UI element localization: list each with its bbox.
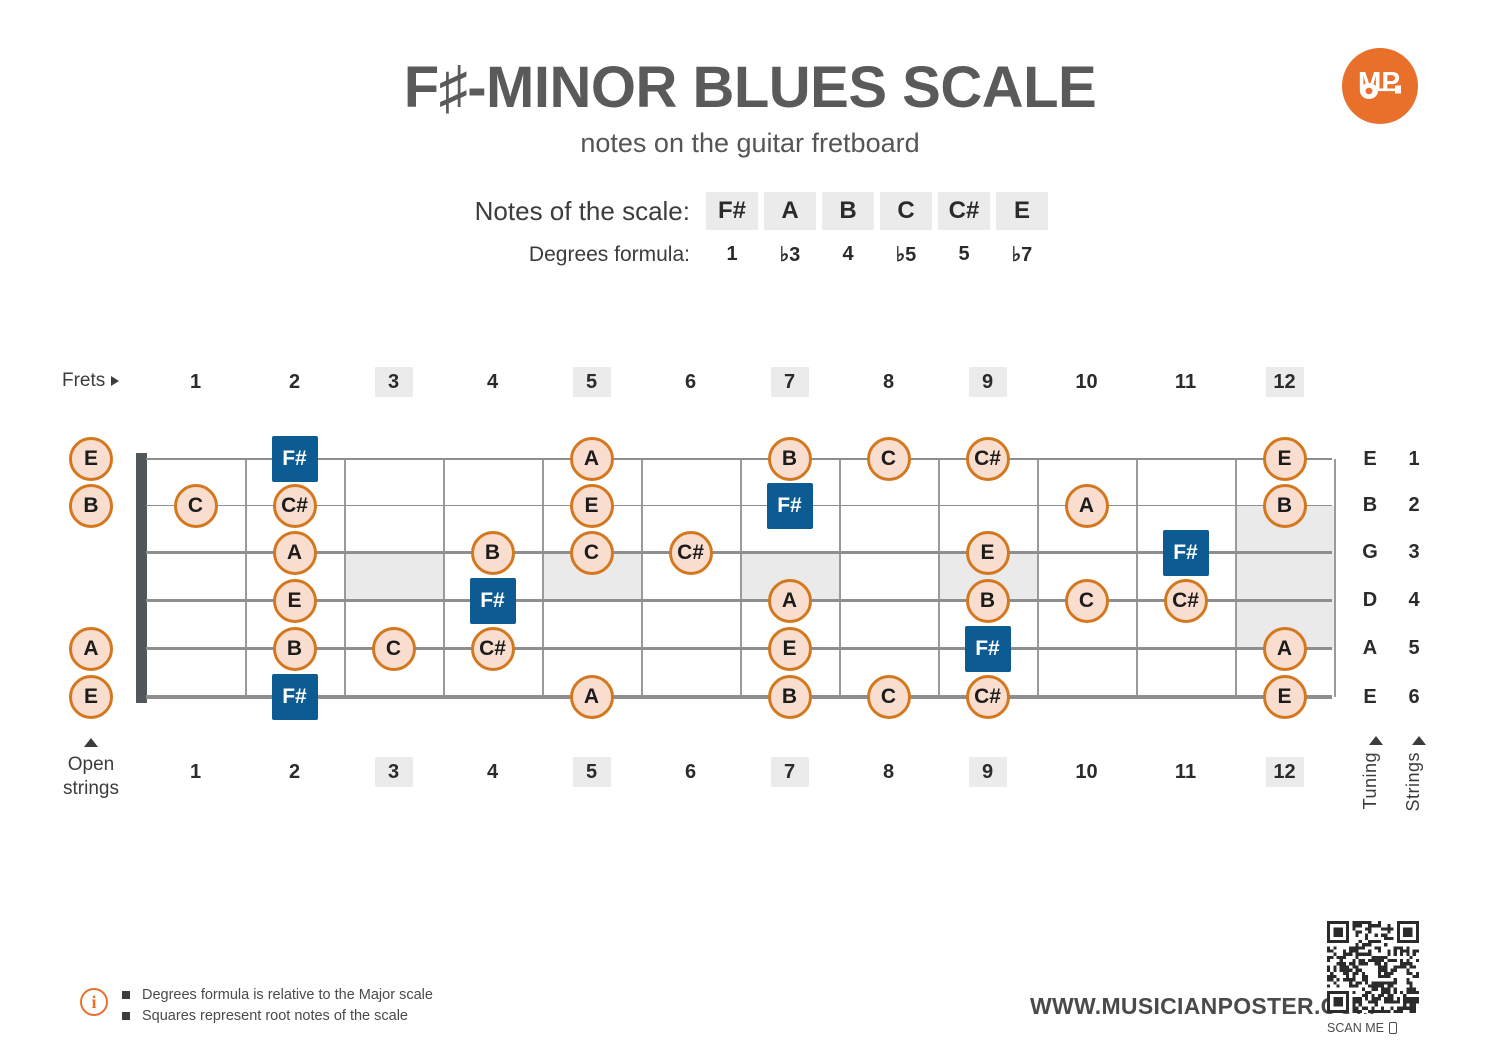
- fret-wire: [938, 459, 940, 697]
- string-line: [146, 505, 1332, 507]
- scale-note-marker[interactable]: A: [768, 579, 812, 623]
- scale-note-marker[interactable]: C#: [273, 484, 317, 528]
- open-string-note[interactable]: E: [69, 675, 113, 719]
- scale-note-marker[interactable]: A: [1065, 484, 1109, 528]
- fret-number: 3: [375, 367, 413, 397]
- root-note-marker[interactable]: F#: [965, 626, 1011, 672]
- scale-note-marker[interactable]: C: [174, 484, 218, 528]
- fret-number: 1: [177, 757, 215, 787]
- scale-note-marker[interactable]: C: [372, 627, 416, 671]
- fret-number: 12: [1266, 367, 1304, 397]
- scale-note-marker[interactable]: A: [570, 437, 614, 481]
- open-strings-caption-line1: Open: [46, 753, 136, 777]
- fret-wire: [1037, 459, 1039, 697]
- website-url: WWW.MUSICIANPOSTER.COM: [1030, 993, 1375, 1020]
- tuning-caption: Tuning: [1360, 752, 1381, 809]
- tuning-label: B: [1350, 491, 1390, 521]
- fret-inlay-marker: [344, 553, 443, 601]
- fret-number: 10: [1068, 367, 1106, 397]
- string-line: [146, 458, 1332, 459]
- fret-number: 7: [771, 367, 809, 397]
- open-string-note[interactable]: A: [69, 627, 113, 671]
- scale-note-marker[interactable]: C: [570, 531, 614, 575]
- scale-note-marker[interactable]: C: [1065, 579, 1109, 623]
- footer-note-1: Degrees formula is relative to the Major…: [122, 987, 433, 1003]
- fret-number: 5: [573, 367, 611, 397]
- tuning-label: D: [1350, 586, 1390, 616]
- scale-note-marker[interactable]: C#: [471, 627, 515, 671]
- scale-note-marker[interactable]: A: [570, 675, 614, 719]
- fret-number: 9: [969, 757, 1007, 787]
- scale-note-marker[interactable]: E: [768, 627, 812, 671]
- frets-label: Frets: [62, 370, 119, 392]
- scale-note-marker[interactable]: C#: [966, 437, 1010, 481]
- open-strings-caption: Open strings: [46, 738, 136, 801]
- bullet-square-icon: [122, 1012, 130, 1020]
- fret-wire: [245, 459, 247, 697]
- qr-code[interactable]: [1327, 921, 1419, 1013]
- fret-wire: [344, 459, 346, 697]
- phone-icon: [1389, 1022, 1397, 1034]
- fret-number: 11: [1167, 757, 1205, 787]
- fret-number: 3: [375, 757, 413, 787]
- root-note-marker[interactable]: F#: [272, 674, 318, 720]
- fret-number: 8: [870, 757, 908, 787]
- scale-note-marker[interactable]: B: [768, 675, 812, 719]
- scale-note-marker[interactable]: E: [1263, 675, 1307, 719]
- tuning-label: G: [1350, 538, 1390, 568]
- fretboard-section: Frets 123456789101112 123456789101112 EB…: [0, 0, 1500, 1061]
- fret-wire: [1334, 459, 1336, 697]
- strings-caption: Strings: [1403, 752, 1424, 812]
- string-line: [146, 647, 1332, 650]
- scale-note-marker[interactable]: C#: [1164, 579, 1208, 623]
- arrow-right-icon: [111, 376, 119, 386]
- tuning-label: E: [1350, 444, 1390, 474]
- root-note-marker[interactable]: F#: [470, 578, 516, 624]
- fret-number: 11: [1167, 367, 1205, 397]
- string-number-label: 4: [1394, 586, 1434, 616]
- fret-number: 7: [771, 757, 809, 787]
- string-number-label: 6: [1394, 682, 1434, 712]
- fret-number: 12: [1266, 757, 1304, 787]
- fretboard-grid: F#ABCC#ECC#EF#ABABCC#EF#EF#ABCC#BCC#EF#A…: [136, 459, 1332, 697]
- scale-note-marker[interactable]: C: [867, 675, 911, 719]
- open-string-note[interactable]: E: [69, 437, 113, 481]
- fret-wire: [1136, 459, 1138, 697]
- bullet-square-icon: [122, 991, 130, 999]
- scale-note-marker[interactable]: E: [570, 484, 614, 528]
- footer-note-1-text: Degrees formula is relative to the Major…: [142, 987, 433, 1003]
- fret-number: 4: [474, 757, 512, 787]
- scale-note-marker[interactable]: B: [471, 531, 515, 575]
- fret-wire: [542, 459, 544, 697]
- fret-number: 4: [474, 367, 512, 397]
- string-line: [146, 695, 1332, 698]
- string-number-label: 1: [1394, 444, 1434, 474]
- info-glyph: i: [91, 992, 96, 1013]
- scale-note-marker[interactable]: C#: [966, 675, 1010, 719]
- fret-number: 6: [672, 367, 710, 397]
- footer-note-2-text: Squares represent root notes of the scal…: [142, 1008, 408, 1024]
- fret-wire: [1235, 459, 1237, 697]
- scale-note-marker[interactable]: B: [768, 437, 812, 481]
- fret-number: 5: [573, 757, 611, 787]
- fret-number: 2: [276, 367, 314, 397]
- fret-number: 6: [672, 757, 710, 787]
- scale-note-marker[interactable]: E: [273, 579, 317, 623]
- footer-note-2: Squares represent root notes of the scal…: [122, 1008, 408, 1024]
- scale-note-marker[interactable]: C#: [669, 531, 713, 575]
- fret-wire: [839, 459, 841, 697]
- info-icon: i: [80, 988, 108, 1016]
- scan-me-text: SCAN ME: [1327, 1021, 1384, 1035]
- scale-note-marker[interactable]: B: [1263, 484, 1307, 528]
- scale-note-marker[interactable]: C: [867, 437, 911, 481]
- nut: [136, 453, 147, 703]
- string-line: [146, 599, 1332, 601]
- scale-note-marker[interactable]: B: [966, 579, 1010, 623]
- frets-label-text: Frets: [62, 370, 105, 392]
- scale-note-marker[interactable]: E: [1263, 437, 1307, 481]
- strings-arrow-up-icon: [1412, 736, 1426, 745]
- string-number-label: 2: [1394, 491, 1434, 521]
- root-note-marker[interactable]: F#: [767, 483, 813, 529]
- fret-number: 9: [969, 367, 1007, 397]
- open-string-note[interactable]: B: [69, 484, 113, 528]
- root-note-marker[interactable]: F#: [272, 436, 318, 482]
- root-note-marker[interactable]: F#: [1163, 530, 1209, 576]
- tuning-label: E: [1350, 682, 1390, 712]
- string-number-label: 5: [1394, 634, 1434, 664]
- scale-note-marker[interactable]: A: [273, 531, 317, 575]
- fret-wire: [443, 459, 445, 697]
- tuning-arrow-up-icon: [1369, 736, 1383, 745]
- fret-wire: [740, 459, 742, 697]
- scale-note-marker[interactable]: A: [1263, 627, 1307, 671]
- scan-me-label: SCAN ME: [1327, 1021, 1427, 1035]
- scale-note-marker[interactable]: B: [273, 627, 317, 671]
- fret-wire: [641, 459, 643, 697]
- fret-number: 8: [870, 367, 908, 397]
- string-line: [146, 551, 1332, 553]
- open-strings-caption-line2: strings: [46, 777, 136, 801]
- scale-note-marker[interactable]: E: [966, 531, 1010, 575]
- tuning-label: A: [1350, 634, 1390, 664]
- fret-number: 10: [1068, 757, 1106, 787]
- fret-number: 2: [276, 757, 314, 787]
- arrow-up-icon: [84, 738, 98, 747]
- string-number-label: 3: [1394, 538, 1434, 568]
- fret-number: 1: [177, 367, 215, 397]
